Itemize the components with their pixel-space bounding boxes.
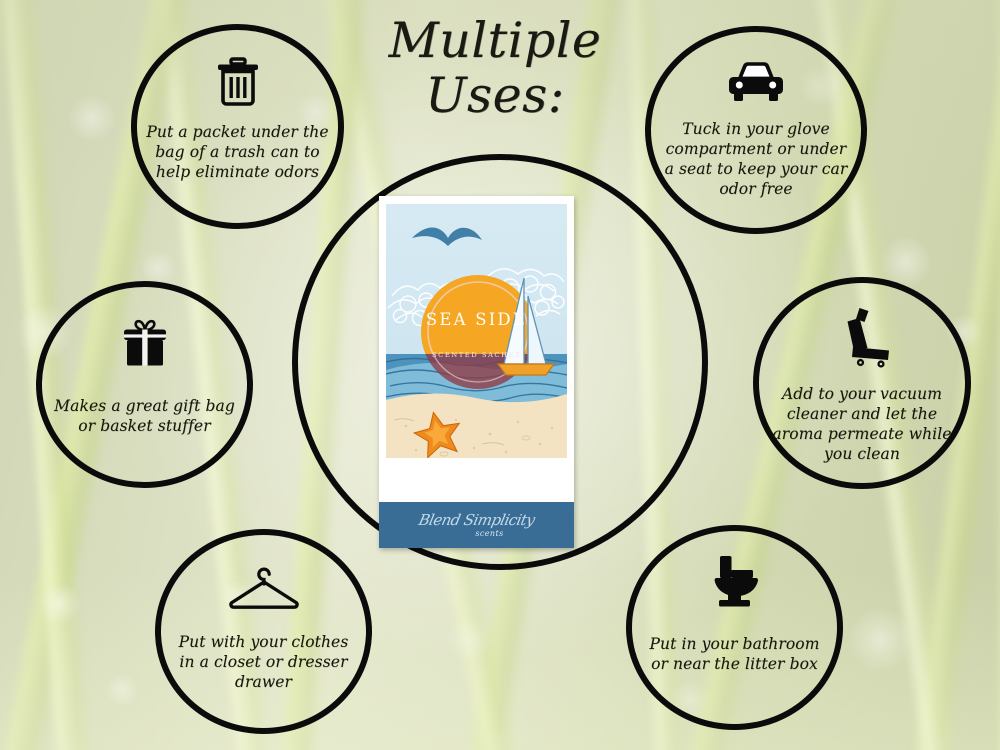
clothes-hanger-icon	[225, 563, 303, 616]
trash-can-icon	[215, 57, 261, 112]
use-bubble-toilet: Put in your bathroom or near the litter …	[626, 525, 843, 730]
use-bubble-vacuum-caption: Add to your vacuum cleaner and let the a…	[759, 384, 965, 465]
use-bubble-vacuum: Add to your vacuum cleaner and let the a…	[753, 277, 971, 489]
product-package: SEA SIDE SCENTED SACHET Blend Simplicity…	[379, 196, 574, 548]
page-title-line2: Uses:	[330, 69, 660, 124]
use-bubble-hanger: Put with your clothes in a closet or dre…	[155, 529, 372, 734]
page-title-line1: Multiple	[389, 12, 602, 69]
vacuum-cleaner-icon	[829, 305, 895, 374]
product-artwork: SEA SIDE SCENTED SACHET	[386, 204, 567, 458]
gift-box-icon	[118, 317, 172, 374]
toilet-icon	[706, 553, 764, 614]
page-title: Multiple Uses:	[330, 14, 660, 124]
use-bubble-gift-caption: Makes a great gift bag or basket stuffer	[42, 396, 247, 436]
use-bubble-gift: Makes a great gift bag or basket stuffer	[36, 281, 253, 488]
use-bubble-car-caption: Tuck in your glove compartment or under …	[651, 119, 861, 200]
artwork-sand	[386, 393, 567, 458]
brand-logo-script: Blend Simplicity	[379, 513, 574, 528]
artwork-seagull	[412, 228, 482, 247]
brand-logo: Blend Simplicity scents	[379, 513, 574, 538]
use-bubble-toilet-caption: Put in your bathroom or near the litter …	[632, 634, 837, 674]
car-icon	[725, 58, 787, 111]
infographic-poster: Multiple Uses: Put a packet under the ba…	[0, 0, 1000, 750]
use-bubble-trash-caption: Put a packet under the bag of a trash ca…	[137, 122, 338, 182]
brand-logo-subtext: scents	[405, 529, 574, 538]
use-bubble-hanger-caption: Put with your clothes in a closet or dre…	[161, 632, 366, 692]
use-bubble-car: Tuck in your glove compartment or under …	[645, 26, 867, 234]
use-bubble-trash: Put a packet under the bag of a trash ca…	[131, 24, 344, 229]
